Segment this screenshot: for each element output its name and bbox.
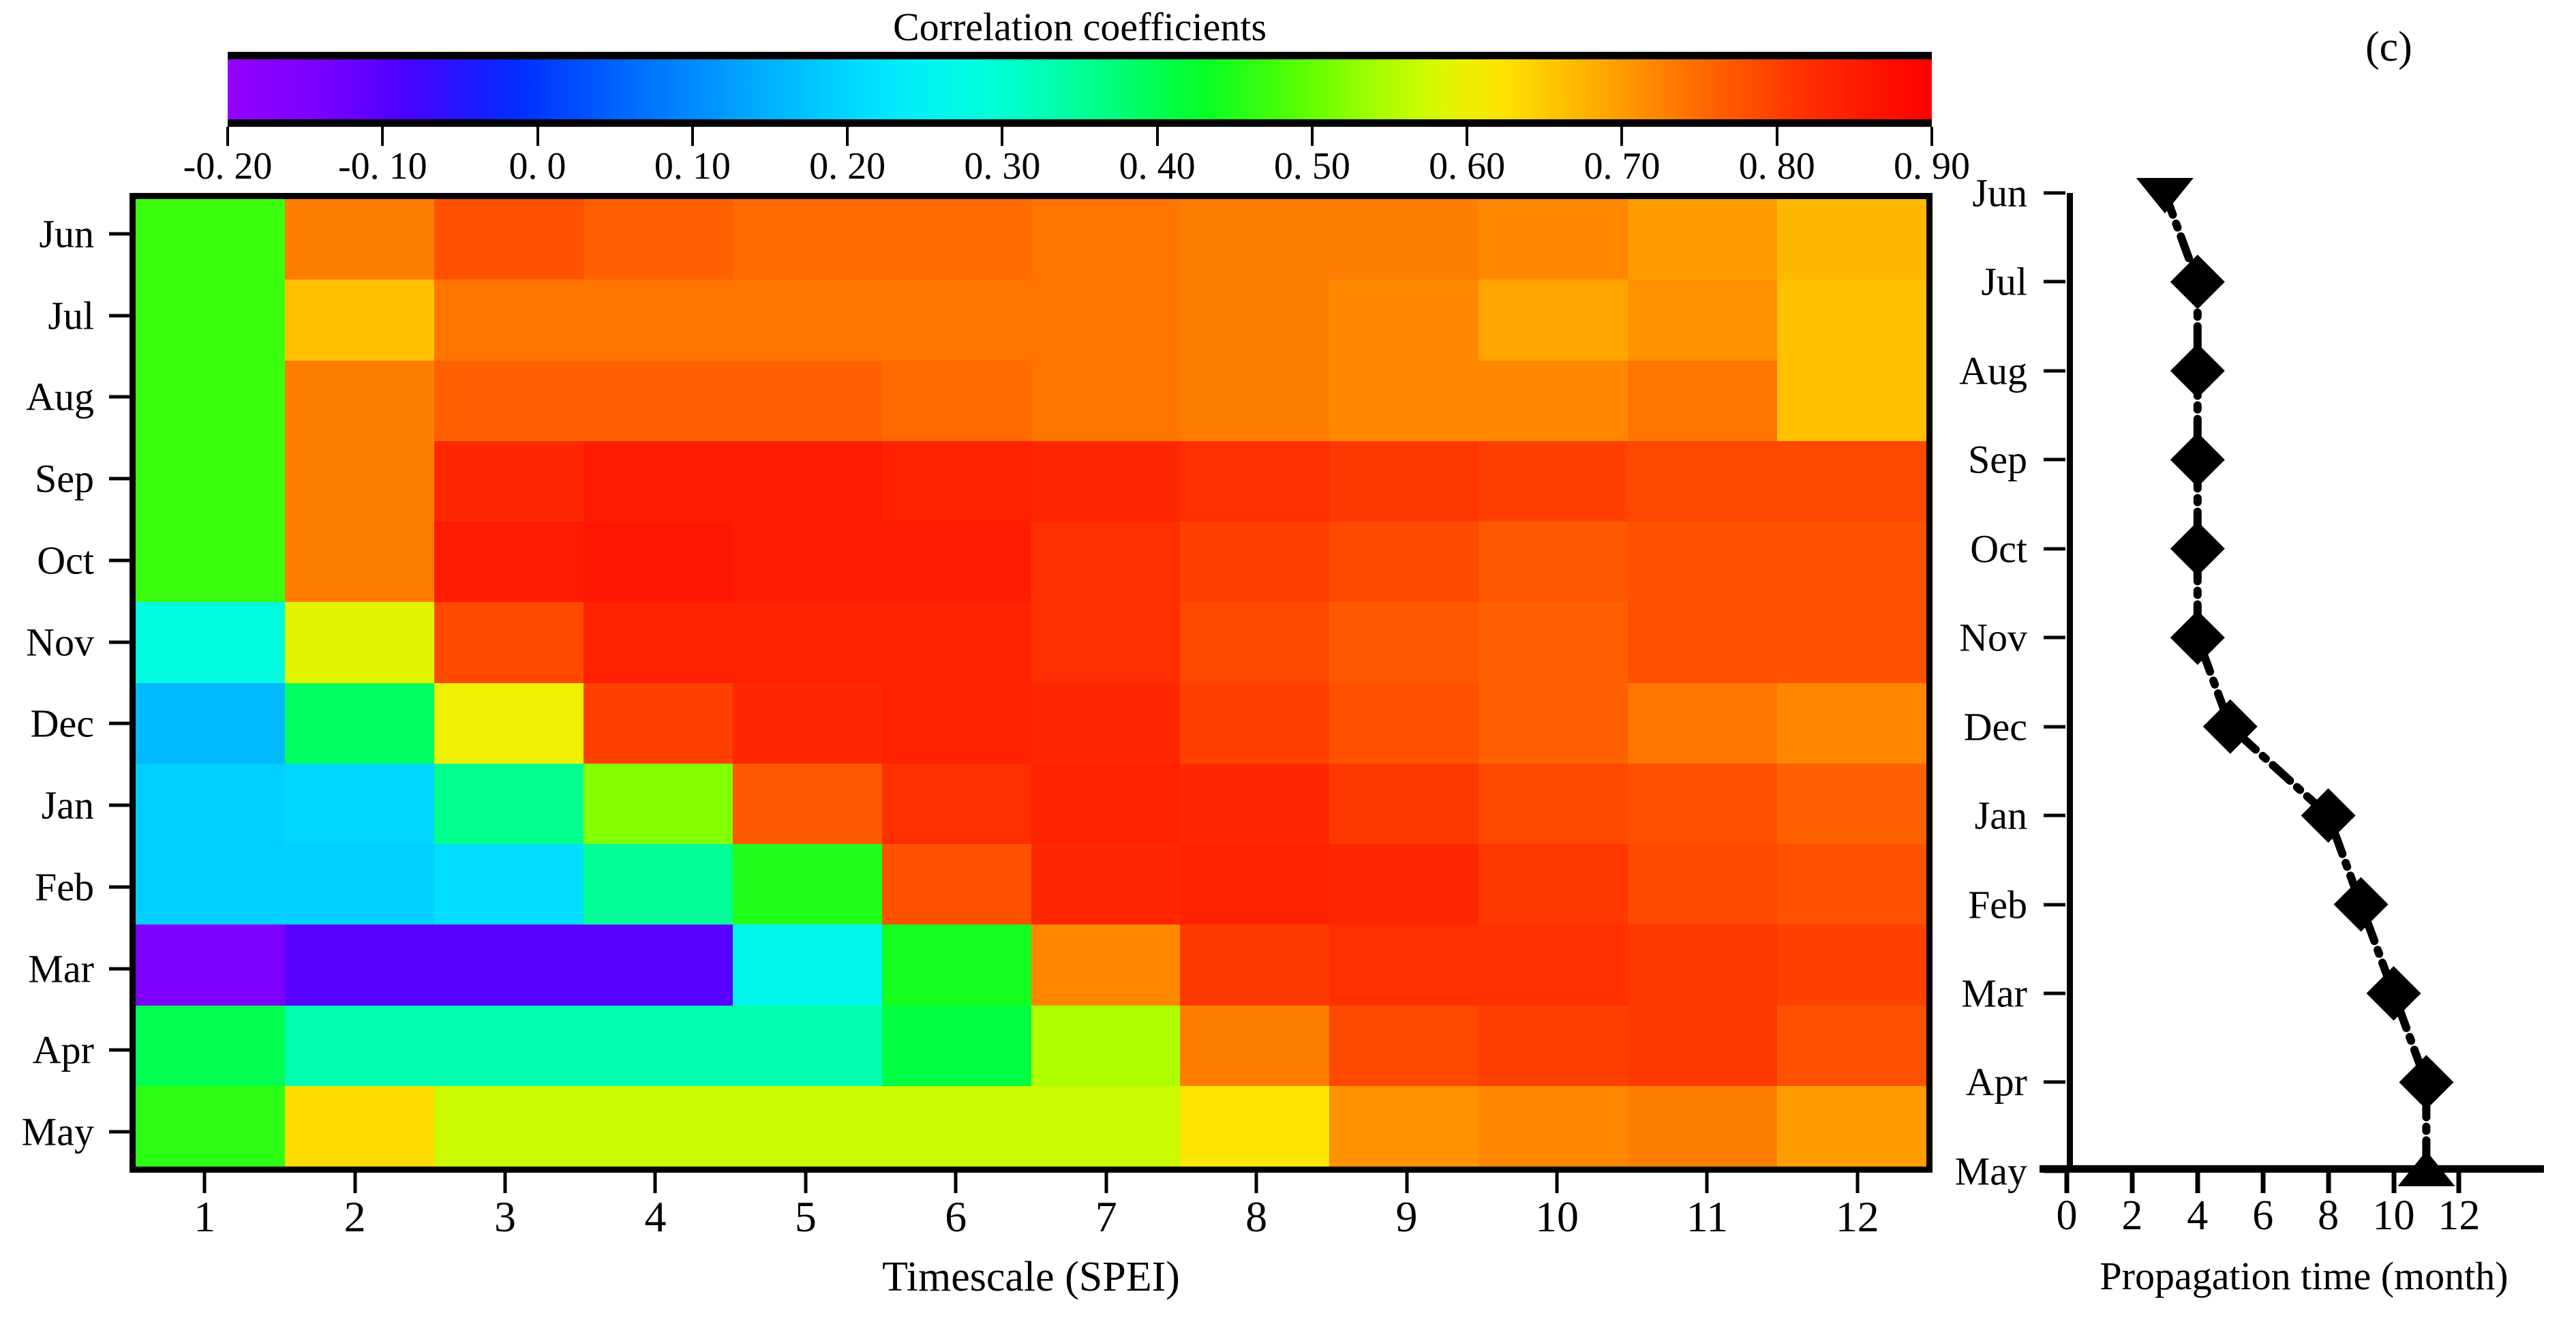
heatmap-cell [882,764,1031,844]
heatmap-cell [1628,199,1777,280]
colorbar-tick-label: 0. 0 [509,145,566,188]
heatmap-x-tick-label: 8 [1245,1192,1267,1242]
heatmap-cell [1479,602,1628,682]
heatmap-y-tick [109,232,130,235]
heatmap-cell [733,925,882,1005]
lineplot-y-tick-label: Jun [1972,170,2027,216]
lineplot-marker-diamond [2170,254,2225,309]
heatmap-cell [1777,1006,1926,1086]
heatmap-cell [882,522,1031,602]
heatmap-cell [285,1006,434,1086]
heatmap-cell [882,1086,1031,1167]
heatmap-cell [136,764,285,844]
heatmap-cell [1180,602,1329,682]
heatmap-cell [136,1006,285,1086]
heatmap-cell [1031,280,1181,360]
heatmap-x-tick-label: 2 [344,1192,366,1242]
lineplot-line [2165,193,2427,1171]
heatmap-cell [434,602,584,682]
heatmap-cell [136,844,285,925]
colorbar-tick-label: 0. 70 [1584,145,1660,188]
heatmap-cell [1329,844,1479,925]
heatmap-cell [1479,361,1628,441]
heatmap-x-tick [804,1173,807,1193]
heatmap-x-tick-label: 4 [644,1192,666,1242]
heatmap-y-tick [109,395,130,399]
colorbar-tick-label: -0. 20 [183,145,273,188]
heatmap-cell [1329,764,1479,844]
lineplot-x-tick-labels: 024681012 [2067,1192,2544,1246]
lineplot-x-tick-label: 4 [2187,1192,2208,1240]
lineplot-marker-diamond [2170,344,2225,398]
heatmap-x-tick [1405,1173,1408,1193]
heatmap-grid [136,199,1926,1167]
lineplot-y-tick [2044,991,2065,995]
panel-label-c: (c) [2365,23,2412,72]
lineplot-y-tick-label: Oct [1970,526,2027,571]
heatmap-cell [1031,441,1181,522]
colorbar-gradient [228,52,1932,127]
colorbar-tick [1620,127,1623,146]
lineplot-y-tick-label: Dec [1964,704,2027,749]
heatmap-cell [1180,522,1329,602]
heatmap-x-tick-label: 10 [1535,1192,1579,1242]
lineplot-x-tick [2391,1173,2396,1193]
heatmap-cell [733,522,882,602]
heatmap-cell [584,925,733,1005]
heatmap-cell [584,1006,733,1086]
lineplot-x-tick [2260,1173,2265,1193]
heatmap-cell [1180,764,1329,844]
heatmap-cell [285,522,434,602]
heatmap-cell [1180,1086,1329,1167]
heatmap-cell [733,280,882,360]
colorbar-tick-label: 0. 90 [1894,145,1970,188]
heatmap-y-tick [109,640,130,644]
heatmap-cell [733,602,882,682]
heatmap-x-tick-label: 1 [194,1192,215,1242]
colorbar-tick [846,127,849,146]
heatmap-x-tick-label: 9 [1396,1192,1418,1242]
lineplot-y-tick-labels: JunJulAugSepOctNovDecJanFebMarAprMay [1943,193,2052,1173]
heatmap-cell [1777,199,1926,280]
heatmap-y-ticks [109,193,131,1173]
heatmap-y-tick-label: Oct [37,537,94,583]
heatmap-cell [1329,361,1479,441]
heatmap-cell [1180,925,1329,1005]
heatmap-cell [733,844,882,925]
heatmap-cell [882,441,1031,522]
heatmap-y-tick-label: Aug [26,374,94,420]
heatmap-cell [733,199,882,280]
heatmap-y-tick [109,885,130,888]
heatmap-cell [1180,683,1329,764]
heatmap-y-tick [109,1130,130,1134]
heatmap-cell [1031,683,1181,764]
heatmap-cell [733,1086,882,1167]
heatmap-cell [1329,1006,1479,1086]
heatmap-cell [733,1006,882,1086]
lineplot-y-tick-label: May [1955,1148,2027,1194]
lineplot-x-tick-label: 2 [2121,1192,2142,1240]
heatmap-x-tick-labels: 123456789101112 [130,1192,1933,1246]
heatmap-y-tick-label: Jul [48,292,94,338]
heatmap-x-tick [654,1173,657,1193]
heatmap-cell [1329,683,1479,764]
heatmap-cell [1479,683,1628,764]
heatmap-cell [434,844,584,925]
colorbar-tick [1311,127,1314,146]
heatmap-cell [733,764,882,844]
heatmap-cell [1329,199,1479,280]
heatmap-cell [1479,1006,1628,1086]
heatmap-cell [882,361,1031,441]
lineplot-x-tick-label: 6 [2252,1192,2273,1240]
heatmap-cell [1031,199,1181,280]
heatmap-y-tick-label: Sep [35,456,94,502]
lineplot-marker-diamond [2170,610,2225,665]
heatmap-y-tick [109,722,130,725]
lineplot-marker-diamond [2334,877,2389,932]
colorbar-tick [226,127,229,146]
lineplot-x-tick [2195,1173,2200,1193]
heatmap-y-tick-label: Apr [33,1027,94,1073]
heatmap-cell [882,925,1031,1005]
heatmap-x-tick [1706,1173,1709,1193]
heatmap-cell [1031,844,1181,925]
heatmap-cell [1777,844,1926,925]
heatmap-cell [1329,925,1479,1005]
heatmap-cell [1180,441,1329,522]
colorbar-tick-label: 0. 80 [1739,145,1815,188]
heatmap-cell [434,199,584,280]
heatmap-cell [1180,199,1329,280]
heatmap-y-tick [109,558,130,562]
heatmap-cell [1628,361,1777,441]
heatmap-cell [584,602,733,682]
heatmap-y-tick [109,804,130,807]
heatmap-x-tick [353,1173,357,1193]
heatmap-plot-area [130,193,1933,1173]
heatmap-cell [584,361,733,441]
heatmap-cell [434,683,584,764]
heatmap-cell [584,764,733,844]
heatmap-cell [1031,602,1181,682]
lineplot-x-tick [2457,1173,2461,1193]
heatmap-cell [285,844,434,925]
heatmap-cell [434,361,584,441]
heatmap-cell [285,361,434,441]
heatmap-cell [1329,522,1479,602]
lineplot-x-tick [2130,1173,2134,1193]
lineplot-marker-diamond [2367,966,2421,1021]
heatmap-cell [882,199,1031,280]
heatmap-y-tick [109,1049,130,1052]
heatmap-cell [285,280,434,360]
heatmap-cell [136,1086,285,1167]
heatmap-cell [1479,280,1628,360]
lineplot-y-tick [2044,725,2065,728]
heatmap-cell [434,522,584,602]
heatmap-cell [434,925,584,1005]
heatmap-y-tick-label: May [22,1109,94,1155]
colorbar-tick-labels: -0. 20-0. 100. 00. 100. 200. 300. 400. 5… [228,145,1932,192]
heatmap-x-tick [954,1173,958,1193]
heatmap-cell [1479,1086,1628,1167]
heatmap-cell [584,844,733,925]
colorbar-tick-label: 0. 30 [964,145,1040,188]
heatmap-cell [1031,925,1181,1005]
heatmap-cell [1777,441,1926,522]
heatmap-cell [136,361,285,441]
colorbar-tick [1156,127,1159,146]
heatmap-y-tick-label: Jan [42,783,94,828]
lineplot-series [2067,193,2544,1173]
heatmap-cell [882,280,1031,360]
heatmap-cell [882,683,1031,764]
lineplot-x-tick-label: 12 [2438,1192,2480,1240]
heatmap-x-tick [1555,1173,1558,1193]
lineplot-y-tick-label: Apr [1966,1060,2027,1105]
figure-root: Correlation coefficients -0. 20-0. 100. … [0,0,2576,1322]
lineplot-marker-diamond [2170,522,2225,576]
lineplot-x-tick-label: 10 [2373,1192,2415,1240]
heatmap-cell [1479,441,1628,522]
heatmap-y-tick-label: Feb [35,864,94,910]
heatmap-x-tick [1104,1173,1108,1193]
colorbar-tick [1001,127,1003,146]
lineplot-x-tick-label: 8 [2318,1192,2339,1240]
heatmap-cell [434,280,584,360]
heatmap-cell [1628,1006,1777,1086]
colorbar-tick [1466,127,1468,146]
heatmap-cell [1628,683,1777,764]
lineplot-y-tick [2044,814,2065,817]
heatmap-x-tick-label: 12 [1836,1192,1879,1242]
heatmap-cell [1628,1086,1777,1167]
heatmap-y-tick [109,314,130,317]
heatmap-cell [1329,441,1479,522]
lineplot-y-tick-label: Aug [1959,348,2027,393]
colorbar-tick-label: -0. 10 [338,145,427,188]
lineplot-y-tick-label: Feb [1968,882,2027,927]
heatmap-cell [1628,522,1777,602]
heatmap-x-tick [504,1173,507,1193]
heatmap-y-tick-labels: JunJulAugSepOctNovDecJanFebMarAprMay [0,193,117,1173]
heatmap-y-tick-label: Dec [31,701,94,747]
colorbar-tick [691,127,694,146]
colorbar-tick-label: 0. 60 [1429,145,1505,188]
colorbar-tick [1776,127,1778,146]
colorbar-tick-label: 0. 10 [654,145,731,188]
heatmap-cell [1479,199,1628,280]
heatmap-cell [1777,602,1926,682]
heatmap-cell [136,199,285,280]
heatmap-cell [882,1006,1031,1086]
lineplot-x-axis-title: Propagation time (month) [2018,1253,2576,1299]
heatmap-cell [1329,602,1479,682]
heatmap-cell [136,602,285,682]
lineplot-y-tick [2044,192,2065,195]
lineplot-y-tick-label: Jan [1975,793,2027,839]
heatmap-cell [136,683,285,764]
heatmap-cell [584,683,733,764]
heatmap-cell [882,844,1031,925]
heatmap-cell [584,522,733,602]
heatmap-cell [136,925,285,1005]
heatmap-cell [136,522,285,602]
heatmap-cell [1031,522,1181,602]
heatmap-cell [882,602,1031,682]
lineplot-y-tick-label: Nov [1959,615,2027,661]
heatmap-x-tick-label: 5 [795,1192,817,1242]
heatmap-x-tick [1855,1173,1859,1193]
heatmap-y-tick-label: Jun [39,211,94,256]
heatmap-x-tick [1255,1173,1258,1193]
colorbar-tick-label: 0. 20 [809,145,885,188]
lineplot-y-ticks [2044,193,2067,1173]
heatmap-cell [1329,1086,1479,1167]
heatmap-cell [434,1006,584,1086]
heatmap-cell [1031,1006,1181,1086]
heatmap-cell [1777,1086,1926,1167]
heatmap-cell [285,199,434,280]
heatmap-cell [1628,280,1777,360]
lineplot-y-tick [2044,636,2065,640]
heatmap-cell [285,683,434,764]
heatmap-x-tick-label: 7 [1095,1192,1117,1242]
heatmap-cell [1777,280,1926,360]
heatmap-cell [1628,925,1777,1005]
lineplot-y-tick [2044,903,2065,906]
heatmap-x-tick-label: 6 [945,1192,967,1242]
heatmap-cell [584,1086,733,1167]
lineplot-y-tick [2044,547,2065,550]
colorbar-tick [536,127,539,146]
lineplot-y-tick-label: Mar [1961,970,2027,1016]
heatmap-cell [1479,764,1628,844]
lineplot-y-tick [2044,1081,2065,1084]
heatmap-cell [733,361,882,441]
heatmap-cell [733,441,882,522]
lineplot-y-tick-label: Sep [1968,437,2027,483]
heatmap-cell [285,764,434,844]
lineplot-y-tick [2044,369,2065,372]
heatmap-y-tick [109,477,130,481]
heatmap-cell [1479,925,1628,1005]
heatmap-cell [285,441,434,522]
heatmap-cell [285,1086,434,1167]
heatmap-cell [434,764,584,844]
lineplot-y-tick-label: Jul [1981,259,2027,305]
heatmap-cell [1628,441,1777,522]
heatmap-cell [1031,1086,1181,1167]
heatmap-cell [1479,522,1628,602]
colorbar-tick-label: 0. 50 [1274,145,1350,188]
lineplot-y-tick [2044,280,2065,284]
heatmap-cell [285,925,434,1005]
heatmap-cell [1180,844,1329,925]
heatmap-cell [1180,361,1329,441]
heatmap-x-tick-label: 3 [494,1192,516,1242]
heatmap-cell [1031,764,1181,844]
lineplot-y-tick [2044,458,2065,462]
heatmap-x-tick-label: 11 [1686,1192,1729,1242]
heatmap-cell [584,199,733,280]
heatmap-y-tick [109,967,130,970]
lineplot-x-tick [2326,1173,2331,1193]
heatmap-cell [1777,683,1926,764]
heatmap-cell [1777,361,1926,441]
heatmap-cell [434,441,584,522]
heatmap-cell [1628,764,1777,844]
lineplot-x-tick [2065,1173,2070,1193]
heatmap-cell [285,602,434,682]
heatmap-cell [1628,844,1777,925]
heatmap-cell [733,683,882,764]
heatmap-cell [1180,280,1329,360]
heatmap-cell [136,280,285,360]
heatmap-cell [136,441,285,522]
heatmap-cell [1777,522,1926,602]
lineplot-x-tick-label: 0 [2057,1192,2078,1240]
heatmap-cell [1329,280,1479,360]
heatmap-cell [584,441,733,522]
heatmap-cell [1479,844,1628,925]
heatmap-cell [584,280,733,360]
heatmap-cell [1031,361,1181,441]
heatmap-cell [1777,925,1926,1005]
heatmap-cell [434,1086,584,1167]
heatmap-cell [1180,1006,1329,1086]
heatmap-cell [1628,602,1777,682]
heatmap-y-tick-label: Nov [26,619,94,665]
heatmap-x-tick [203,1173,207,1193]
heatmap-x-axis-title: Timescale (SPEI) [130,1253,1933,1302]
colorbar [228,52,1932,127]
lineplot-marker-diamond [2170,432,2225,487]
lineplot-marker-diamond [2399,1055,2453,1109]
lineplot-plot-area [2067,193,2544,1173]
colorbar-tick [1930,127,1933,146]
colorbar-title: Correlation coefficients [228,4,1932,50]
heatmap-cell [1777,764,1926,844]
heatmap-y-tick-label: Mar [28,946,94,991]
lineplot-marker-triangle [2136,178,2194,213]
colorbar-tick [381,127,384,146]
colorbar-tick-label: 0. 40 [1119,145,1196,188]
